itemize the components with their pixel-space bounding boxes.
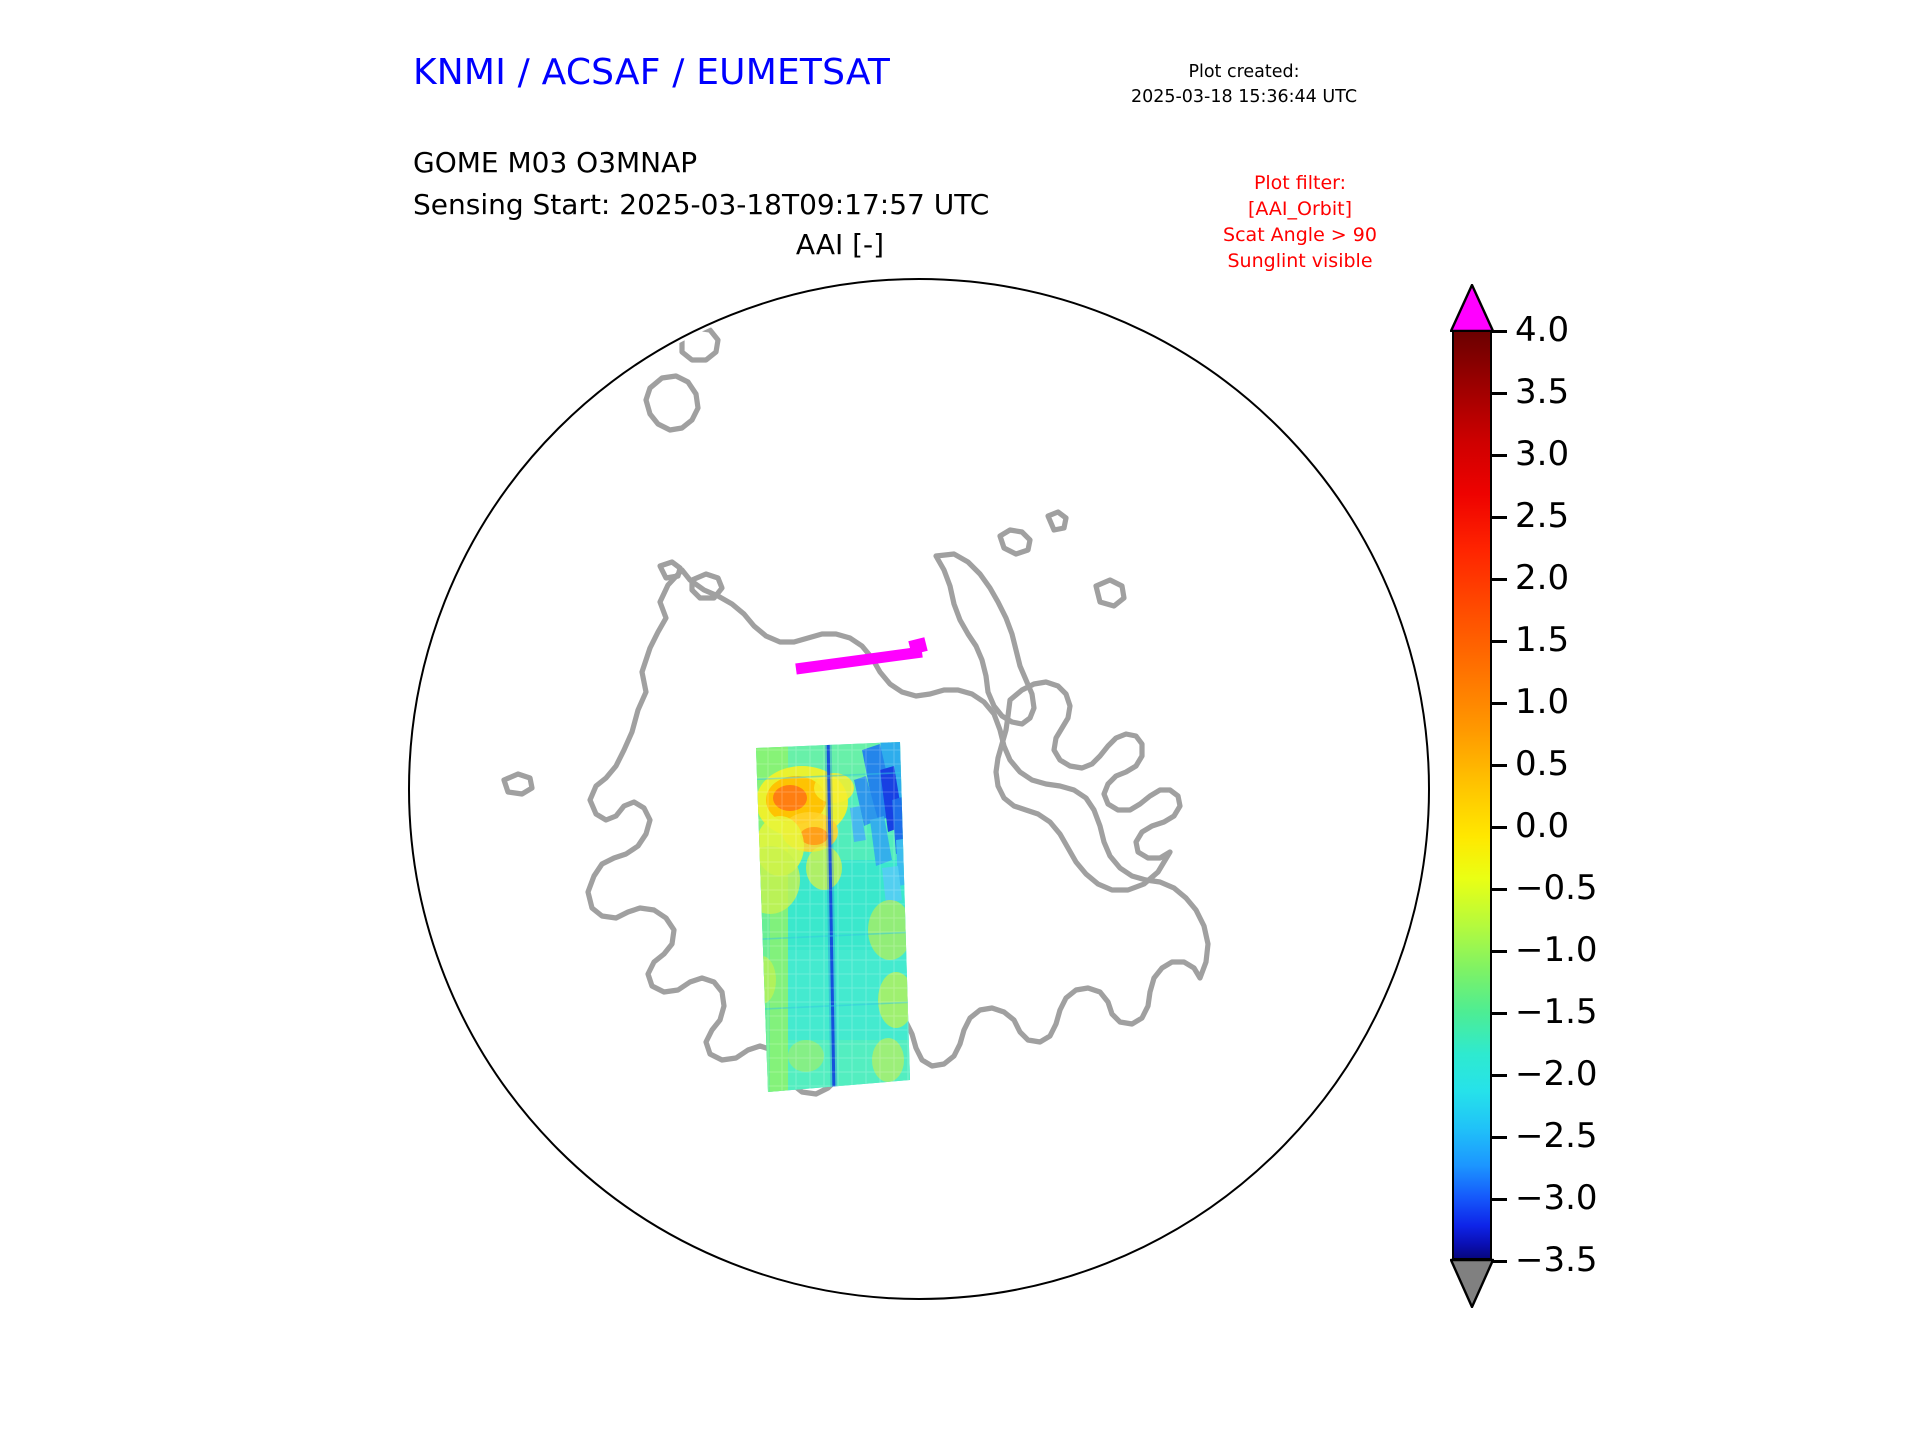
colorbar-tick-label: 1.0 — [1515, 685, 1569, 719]
colorbar-body — [1452, 330, 1492, 1260]
colorbar-tick-mark — [1492, 1260, 1507, 1263]
colorbar: 4.03.53.02.52.01.51.00.50.0−0.5−1.0−1.5−… — [1452, 286, 1508, 1296]
colorbar-tick-label: −0.5 — [1515, 871, 1598, 905]
colorbar-tick-label: −1.0 — [1515, 933, 1598, 967]
organisation-title: KNMI / ACSAF / EUMETSAT — [413, 52, 890, 93]
coastline-south-georgia — [1096, 580, 1124, 606]
plot-filter-line-1: [AAI_Orbit] — [1150, 196, 1450, 222]
plot-title-block: GOME M03 O3MNAP Sensing Start: 2025-03-1… — [413, 142, 989, 226]
colorbar-gradient — [1454, 332, 1490, 1258]
colorbar-tick-mark — [1492, 640, 1507, 643]
colorbar-tick-mark — [1492, 1136, 1507, 1139]
coastline-island-top-b — [660, 562, 680, 578]
colorbar-tick-label: 3.5 — [1515, 375, 1569, 409]
plot-filter-line-2: Scat Angle > 90 — [1150, 222, 1450, 248]
coastline-small-island-2 — [504, 774, 532, 794]
colorbar-tick-mark — [1492, 578, 1507, 581]
data-swath — [740, 730, 930, 1120]
colorbar-tick-label: 0.5 — [1515, 747, 1569, 781]
colorbar-tick-mark — [1492, 888, 1507, 891]
plot-canvas: KNMI / ACSAF / EUMETSAT Plot created: 20… — [0, 0, 1920, 1440]
coastline-antarctic-peninsula — [936, 554, 1034, 724]
plot-filter-line-3: Sunglint visible — [1150, 248, 1450, 274]
colorbar-tick-label: −1.5 — [1515, 995, 1598, 1029]
map-panel — [408, 278, 1430, 1300]
colorbar-tick-label: −3.5 — [1515, 1243, 1598, 1277]
plot-created-timestamp: 2025-03-18 15:36:44 UTC — [1034, 85, 1454, 110]
coastline-island-pair-a — [646, 376, 698, 430]
coastline-south-america — [996, 682, 1180, 890]
colorbar-tick-mark — [1492, 764, 1507, 767]
colorbar-over-range-arrow — [1450, 284, 1494, 332]
colorbar-under-range-arrow — [1450, 1258, 1494, 1308]
plot-created-block: Plot created: 2025-03-18 15:36:44 UTC — [1034, 60, 1454, 110]
colorbar-tick-mark — [1492, 1012, 1507, 1015]
map-contents — [504, 328, 1208, 1120]
colorbar-tick-mark — [1492, 392, 1507, 395]
plot-filter-heading: Plot filter: — [1150, 170, 1450, 196]
sensing-start-title: Sensing Start: 2025-03-18T09:17:57 UTC — [413, 184, 989, 226]
colorbar-tick-mark — [1492, 702, 1507, 705]
coastline-island-pair-b — [682, 328, 718, 360]
map-svg — [410, 280, 1430, 1300]
colorbar-tick-label: 1.5 — [1515, 623, 1569, 657]
coastline-south-shetland — [1000, 530, 1030, 554]
colorbar-tick-mark — [1492, 454, 1507, 457]
colorbar-tick-mark — [1492, 1198, 1507, 1201]
colorbar-tick-mark — [1492, 330, 1507, 333]
globe-outline-circle — [408, 278, 1430, 1300]
colorbar-tick-mark — [1492, 1074, 1507, 1077]
colorbar-tick-label: 4.0 — [1515, 313, 1569, 347]
colorbar-tick-mark — [1492, 826, 1507, 829]
coastline-small-island-1 — [1048, 512, 1066, 530]
parameter-subtitle: AAI [-] — [640, 228, 1040, 261]
colorbar-tick-label: 0.0 — [1515, 809, 1569, 843]
colorbar-tick-label: 3.0 — [1515, 437, 1569, 471]
colorbar-tick-label: 2.5 — [1515, 499, 1569, 533]
colorbar-tick-label: −2.0 — [1515, 1057, 1598, 1091]
instrument-title: GOME M03 O3MNAP — [413, 142, 989, 184]
plot-created-label: Plot created: — [1034, 60, 1454, 85]
colorbar-tick-label: 2.0 — [1515, 561, 1569, 595]
colorbar-tick-mark — [1492, 516, 1507, 519]
plot-filter-block: Plot filter: [AAI_Orbit] Scat Angle > 90… — [1150, 170, 1450, 274]
colorbar-tick-label: −2.5 — [1515, 1119, 1598, 1153]
colorbar-tick-label: −3.0 — [1515, 1181, 1598, 1215]
colorbar-tick-mark — [1492, 950, 1507, 953]
